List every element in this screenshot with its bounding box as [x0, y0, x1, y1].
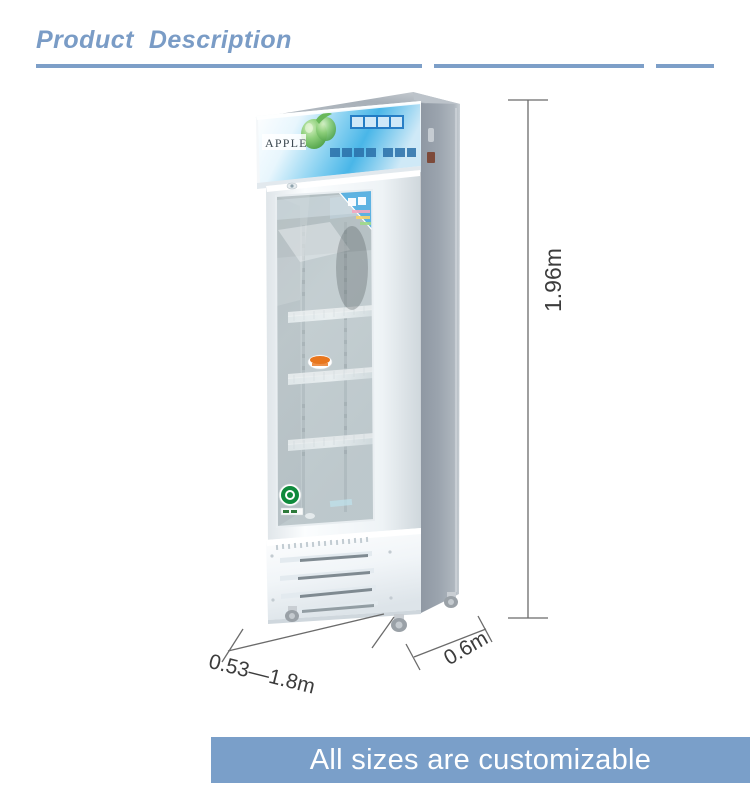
brand-logo: APPLE: [262, 134, 308, 150]
product-illustration: APPLE: [0, 0, 750, 800]
subline-chinese-text: [330, 148, 416, 157]
height-dimension-label: 1.96m: [540, 248, 567, 312]
height-dimension-line: [508, 100, 548, 618]
caster-wheel: [391, 614, 407, 632]
door-lock-icon: [287, 183, 297, 189]
headline-chinese-text: [350, 115, 404, 129]
glass-door-window: [270, 188, 382, 532]
green-energy-sticker: [279, 484, 303, 515]
customizable-banner: All sizes are customizable: [211, 737, 750, 783]
banner-text: All sizes are customizable: [211, 737, 750, 783]
cabinet-side-panel: [416, 103, 460, 613]
svg-text:APPLE: APPLE: [265, 136, 308, 150]
product-description-page: Product Description: [0, 0, 750, 800]
orange-oval-sticker: [308, 355, 332, 369]
